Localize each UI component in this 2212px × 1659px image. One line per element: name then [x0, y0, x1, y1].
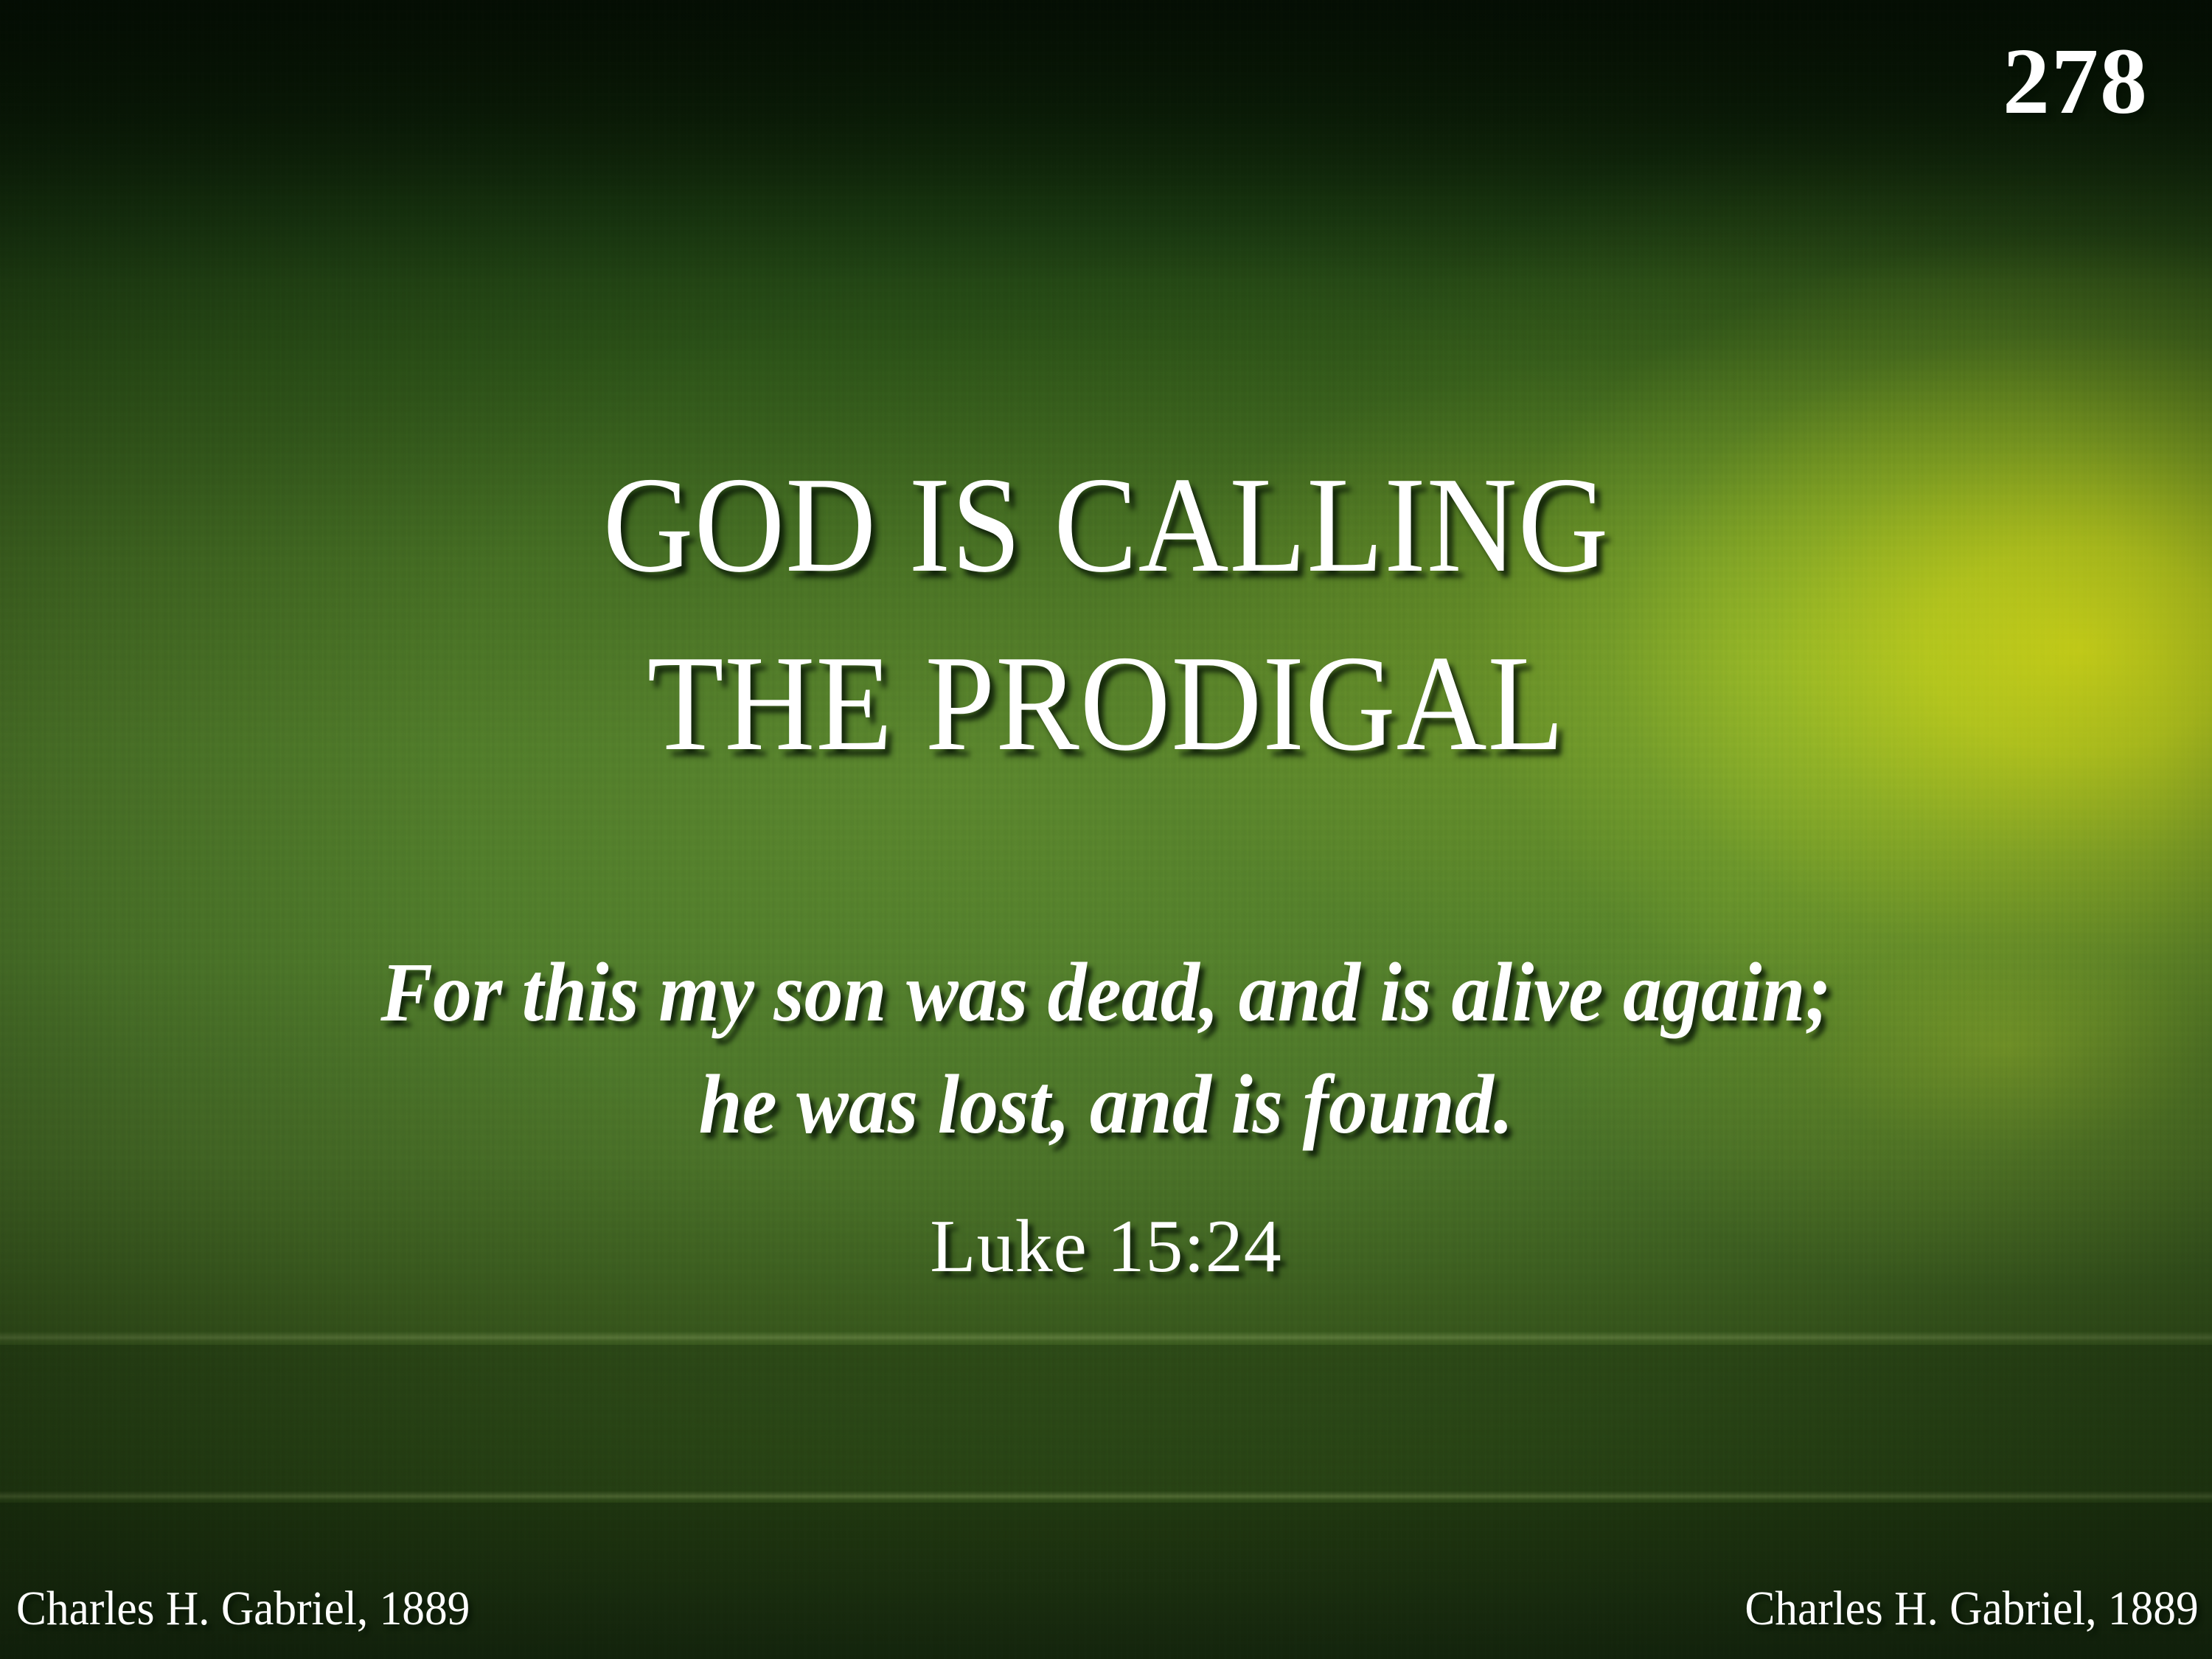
credit-author-right: Charles H. Gabriel, 1889	[1745, 1581, 2199, 1637]
hymn-slide: 278 GOD IS CALLING THE PRODIGAL For this…	[0, 0, 2212, 1659]
credit-author-left: Charles H. Gabriel, 1889	[16, 1581, 470, 1637]
scripture-reference: Luke 15:24	[0, 1202, 2212, 1292]
hymn-title-line-1: GOD IS CALLING	[94, 437, 2118, 615]
scripture-quote: For this my son was dead, and is alive a…	[0, 936, 2212, 1160]
scripture-line-1: For this my son was dead, and is alive a…	[77, 936, 2135, 1048]
hymn-title: GOD IS CALLING THE PRODIGAL	[0, 437, 2212, 793]
slide-content: 278 GOD IS CALLING THE PRODIGAL For this…	[0, 0, 2212, 1659]
scripture-line-2: he was lost, and is found.	[77, 1048, 2135, 1161]
hymn-title-line-2: THE PRODIGAL	[94, 615, 2118, 793]
hymn-number: 278	[2003, 34, 2149, 128]
